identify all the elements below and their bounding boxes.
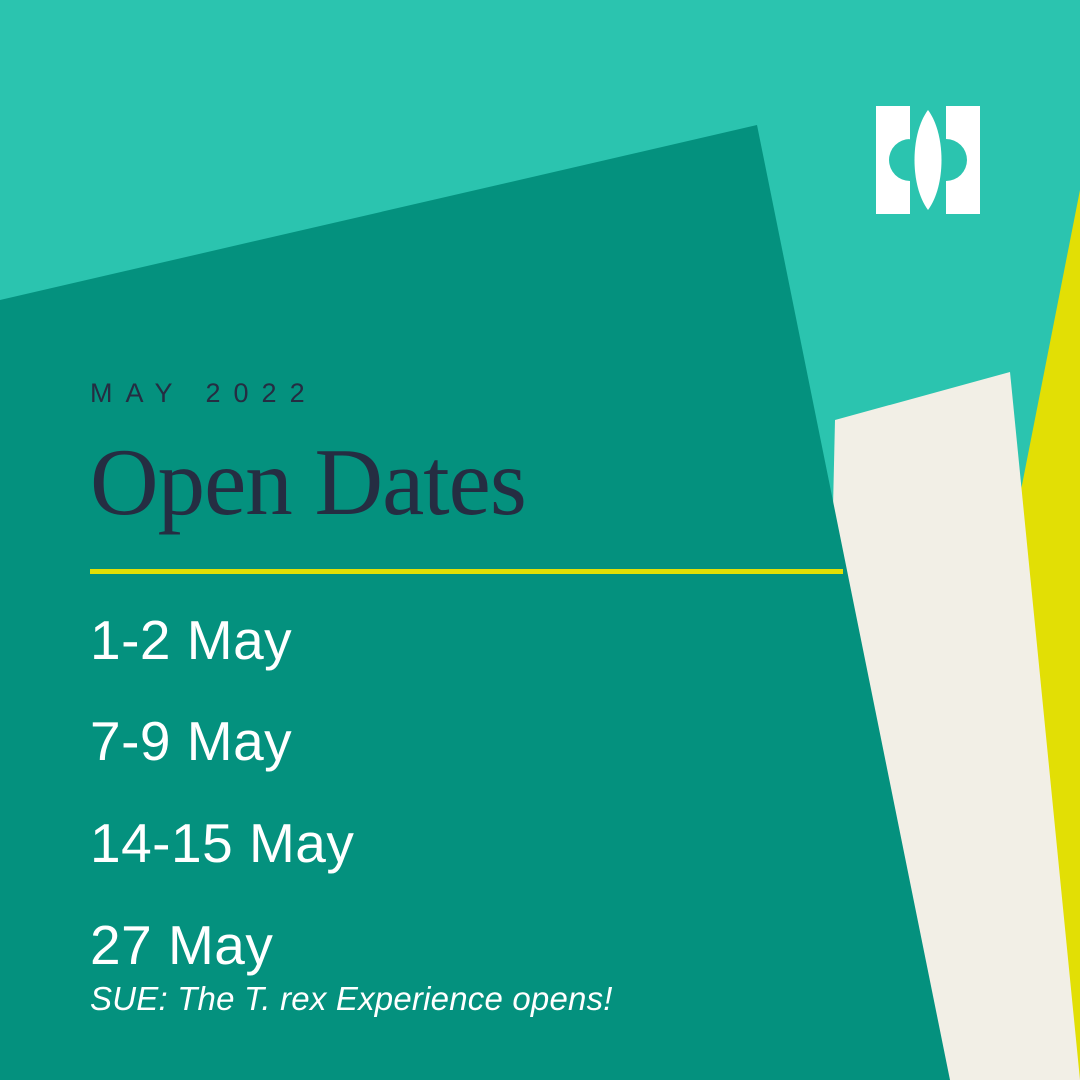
logo-mark xyxy=(876,106,980,214)
eyebrow-month-year: MAY 2022 xyxy=(90,380,850,407)
page-title: Open Dates xyxy=(90,433,850,533)
list-item: 27 May SUE: The T. rex Experience opens! xyxy=(90,915,850,1021)
date-note: SUE: The T. rex Experience opens! xyxy=(90,978,850,1021)
list-item: 7-9 May xyxy=(90,711,850,773)
yellow-divider-rule xyxy=(90,569,843,574)
content-block: MAY 2022 Open Dates 1-2 May 7-9 May 14-1… xyxy=(90,380,850,1021)
date-label: 1-2 May xyxy=(90,610,850,672)
date-label: 27 May xyxy=(90,915,850,977)
list-item: 14-15 May xyxy=(90,813,850,875)
dates-list: 1-2 May 7-9 May 14-15 May 27 May SUE: Th… xyxy=(90,610,850,1021)
museum-logo xyxy=(876,106,980,214)
date-label: 14-15 May xyxy=(90,813,850,875)
list-item: 1-2 May xyxy=(90,610,850,672)
open-dates-poster: MAY 2022 Open Dates 1-2 May 7-9 May 14-1… xyxy=(0,0,1080,1080)
date-label: 7-9 May xyxy=(90,711,850,773)
